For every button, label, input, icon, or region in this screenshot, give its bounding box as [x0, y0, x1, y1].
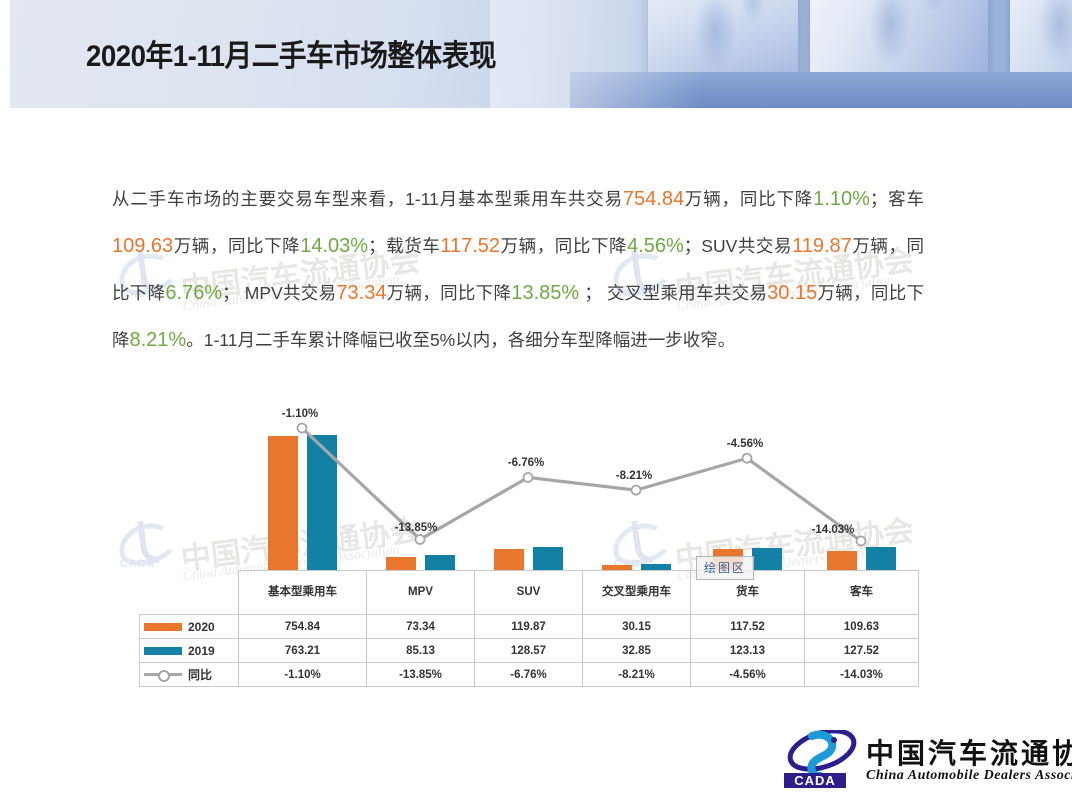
highlight-percent: 13.85%: [511, 282, 579, 304]
trend-point: [857, 537, 866, 546]
table-cell: -14.03%: [805, 663, 919, 687]
trend-point-label: -8.21%: [616, 470, 652, 482]
table-cell: 123.13: [691, 639, 805, 663]
table-legend-cell[interactable]: 同比: [140, 663, 239, 687]
highlight-percent: 1.10%: [813, 188, 870, 210]
body-text: 万辆，同比下降: [386, 283, 511, 303]
body-text: 万辆，同比下降: [173, 236, 300, 256]
cada-logo: CADA 中国汽车流通协会 China Automobile Dealers A…: [782, 728, 1068, 792]
table-legend-cell[interactable]: 2020: [140, 615, 239, 639]
body-text: 万辆，同比下降: [684, 189, 813, 209]
table-cell: 117.52: [691, 615, 805, 639]
highlight-number: 117.52: [440, 235, 500, 257]
table-col-header: 基本型乘用车: [239, 571, 367, 615]
legend-swatch-line-marker-icon: [144, 673, 182, 676]
plot-area-tooltip: 绘图区: [696, 556, 754, 580]
table-col-header: SUV: [475, 571, 583, 615]
body-text: ； MPV共交易: [222, 283, 336, 303]
legend-label: 2020: [188, 620, 215, 634]
trend-point-label: -13.85%: [395, 522, 438, 534]
body-text: 。1-11月二手车累计降幅已收至5%以内，各细分车型降幅进一步收窄。: [186, 330, 735, 350]
table-cell: 85.13: [367, 639, 475, 663]
highlight-number: 119.87: [792, 235, 852, 257]
trend-point-label: -6.76%: [508, 457, 544, 469]
table-cell: -6.76%: [475, 663, 583, 687]
trend-line: [302, 428, 861, 541]
highlight-number: 30.15: [767, 282, 817, 304]
trend-point: [743, 454, 752, 463]
table-cell: 32.85: [583, 639, 691, 663]
table-cell: 128.57: [475, 639, 583, 663]
logo-english-name: China Automobile Dealers Association: [866, 768, 1072, 784]
legend-label: 同比: [188, 668, 212, 682]
logo-chinese-name: 中国汽车流通协会: [866, 732, 1072, 772]
table-cell: 109.63: [805, 615, 919, 639]
body-text: ；载货车: [368, 236, 440, 256]
highlight-percent: 14.03%: [300, 235, 368, 257]
table-cell: -1.10%: [239, 663, 367, 687]
table-col-header: 客车: [805, 571, 919, 615]
body-text: ；SUV共交易: [684, 236, 792, 256]
trend-point-label: -1.10%: [282, 408, 318, 420]
header-cube-right: [1010, 0, 1072, 78]
table-header-row: 基本型乘用车MPVSUV交叉型乘用车货车客车: [140, 571, 919, 615]
legend-swatch-bar-blue-icon: [144, 647, 182, 655]
table-col-header: MPV: [367, 571, 475, 615]
body-text: 万辆，同比下降: [500, 236, 627, 256]
body-text: ；客车: [870, 189, 924, 209]
trend-point-label: -4.56%: [727, 438, 763, 450]
legend-swatch-bar-orange-icon: [144, 623, 182, 631]
highlight-number: 109.63: [112, 235, 173, 257]
chart-data-table: 基本型乘用车MPVSUV交叉型乘用车货车客车2020754.8473.34119…: [139, 570, 919, 687]
trend-point: [632, 486, 641, 495]
table-cell: -13.85%: [367, 663, 475, 687]
highlight-percent: 8.21%: [130, 329, 187, 351]
table-cell: 127.52: [805, 639, 919, 663]
trend-point-label: -14.03%: [812, 524, 855, 536]
table-row: 2019763.2185.13128.5732.85123.13127.52: [140, 639, 919, 663]
table-cell: -4.56%: [691, 663, 805, 687]
svg-text:CADA: CADA: [794, 773, 836, 788]
table-col-header: 交叉型乘用车: [583, 571, 691, 615]
table-cell: 754.84: [239, 615, 367, 639]
legend-label: 2019: [188, 644, 215, 658]
slide-canvas: 2020年1-11月二手车市场整体表现 CADA 中国汽车流通协会 China …: [0, 0, 1072, 802]
page-title: 2020年1-11月二手车市场整体表现: [86, 31, 496, 75]
chart-line-series: [139, 398, 918, 570]
body-text: ； 交叉型乘用车共交易: [579, 283, 767, 303]
highlight-number: 754.84: [623, 188, 684, 210]
table-legend-cell[interactable]: 2019: [140, 639, 239, 663]
table-row: 2020754.8473.34119.8730.15117.52109.63: [140, 615, 919, 639]
table-cell: 763.21: [239, 639, 367, 663]
highlight-percent: 4.56%: [627, 235, 684, 257]
trend-point: [524, 473, 533, 482]
cada-logo-mark-icon: CADA: [782, 730, 860, 788]
table-row: 同比-1.10%-13.85%-6.76%-8.21%-4.56%-14.03%: [140, 663, 919, 687]
body-text: 从二手车市场的主要交易车型来看，1-11月基本型乘用车共交易: [112, 189, 623, 209]
trend-point: [298, 424, 307, 433]
trend-point: [416, 535, 425, 544]
table-corner-cell: [140, 571, 239, 615]
table-cell: 30.15: [583, 615, 691, 639]
summary-paragraph: 从二手车市场的主要交易车型来看，1-11月基本型乘用车共交易754.84万辆，同…: [112, 176, 924, 364]
market-performance-chart[interactable]: -1.10%-13.85%-6.76%-8.21%-4.56%-14.03% 基…: [139, 398, 918, 678]
chart-plot-area[interactable]: -1.10%-13.85%-6.76%-8.21%-4.56%-14.03%: [139, 398, 918, 570]
table-cell: 119.87: [475, 615, 583, 639]
highlight-number: 73.34: [336, 282, 386, 304]
table-cell: 73.34: [367, 615, 475, 639]
highlight-percent: 6.76%: [165, 282, 222, 304]
header-fade-overlay: [490, 0, 700, 108]
table-cell: -8.21%: [583, 663, 691, 687]
